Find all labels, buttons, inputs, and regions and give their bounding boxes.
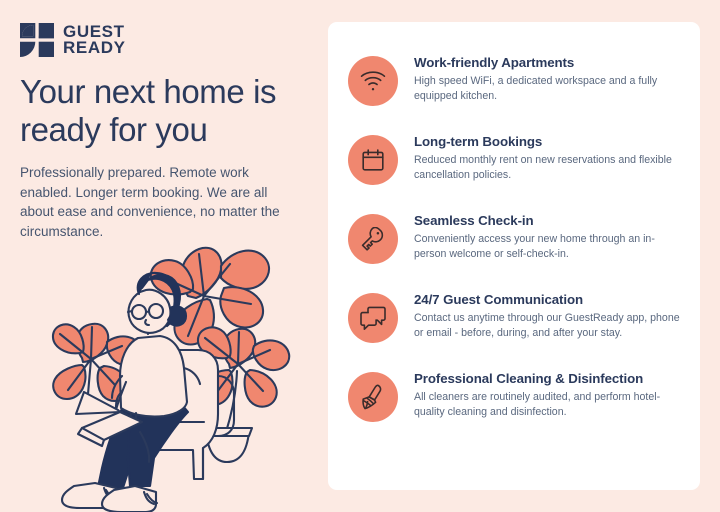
brand-wordmark: GUEST READY [63,24,126,56]
feature-title: Seamless Check-in [414,213,680,229]
page-title: Your next home is ready for you [20,73,310,148]
feature-title: Professional Cleaning & Disinfection [414,371,680,387]
feature-description: Conveniently access your new home throug… [414,232,680,261]
feature-description: Contact us anytime through our GuestRead… [414,311,680,340]
brand-logo[interactable]: GUEST READY [20,23,126,57]
feature-item-professional-cleaning[interactable]: Professional Cleaning & Disinfection All… [348,370,680,422]
feature-item-work-friendly-apartments[interactable]: Work-friendly Apartments High speed WiFi… [348,54,680,106]
wifi-icon [348,56,398,106]
hero-subcopy: Professionally prepared. Remote work ena… [20,163,297,241]
features-card: Work-friendly Apartments High speed WiFi… [328,22,700,490]
feature-text: Professional Cleaning & Disinfection All… [414,370,680,419]
feature-text: 24/7 Guest Communication Contact us anyt… [414,291,680,340]
feature-description: All cleaners are routinely audited, and … [414,390,680,419]
calendar-icon [348,135,398,185]
feature-item-seamless-check-in[interactable]: Seamless Check-in Conveniently access yo… [348,212,680,264]
broom-icon [348,372,398,422]
chat-bubbles-icon [348,293,398,343]
feature-item-guest-communication[interactable]: 24/7 Guest Communication Contact us anyt… [348,291,680,343]
feature-title: 24/7 Guest Communication [414,292,680,308]
hero-column: GUEST READY Your next home is ready for … [0,0,320,512]
feature-text: Work-friendly Apartments High speed WiFi… [414,54,680,103]
hero-illustration [18,236,314,512]
feature-list: Work-friendly Apartments High speed WiFi… [348,54,680,422]
feature-text: Long-term Bookings Reduced monthly rent … [414,133,680,182]
feature-text: Seamless Check-in Conveniently access yo… [414,212,680,261]
feature-title: Work-friendly Apartments [414,55,680,71]
key-icon [348,214,398,264]
feature-description: Reduced monthly rent on new reservations… [414,153,680,182]
brand-name-line2: READY [63,40,126,56]
feature-title: Long-term Bookings [414,134,680,150]
guestready-logo-icon [20,23,54,57]
promo-page: GUEST READY Your next home is ready for … [0,0,720,512]
feature-item-long-term-bookings[interactable]: Long-term Bookings Reduced monthly rent … [348,133,680,185]
feature-description: High speed WiFi, a dedicated workspace a… [414,74,680,103]
